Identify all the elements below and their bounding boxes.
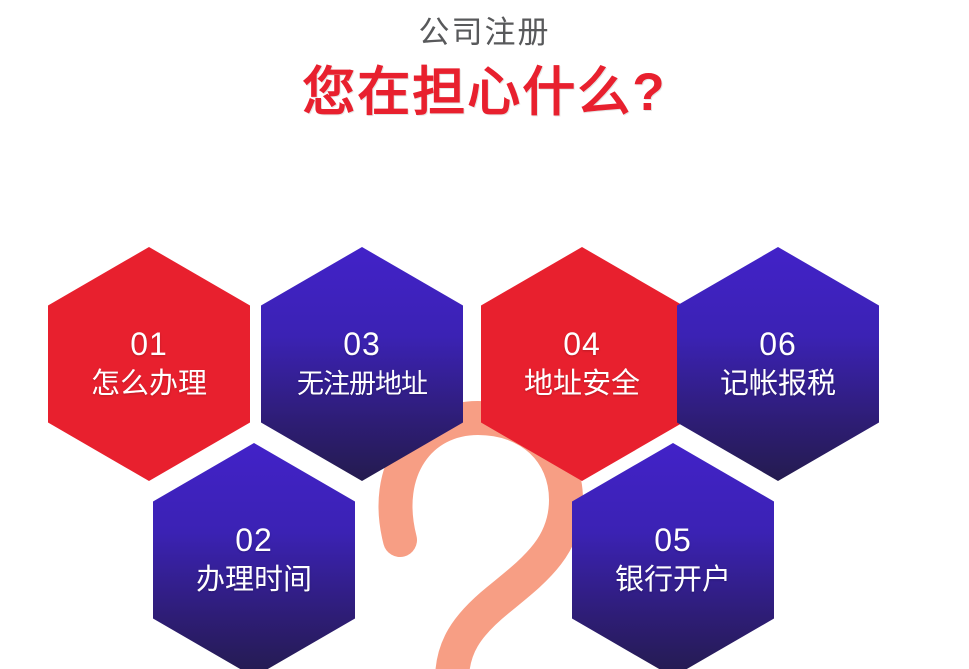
hexagon-label-01: 怎么办理 (91, 366, 207, 402)
hexagon-item-05[interactable]: 05 银行开户 (572, 443, 774, 669)
heading-block: 公司注册 您在担心什么? (0, 0, 969, 124)
page-title: 您在担心什么? (0, 52, 969, 124)
hexagon-item-01[interactable]: 01 怎么办理 (48, 247, 250, 481)
hexagon-label-06: 记帐报税 (720, 366, 836, 402)
hexagon-number-05: 05 (654, 522, 692, 558)
hexagon-item-04[interactable]: 04 地址安全 (481, 247, 683, 481)
hexagon-number-02: 02 (235, 522, 273, 558)
hexagon-label-04: 地址安全 (524, 366, 640, 402)
promo-banner: 公司注册 您在担心什么? 01 怎么办理 03 无注册地址 04 地址安全 06… (0, 0, 969, 669)
hexagon-item-06[interactable]: 06 记帐报税 (677, 247, 879, 481)
hexagon-number-03: 03 (343, 326, 381, 362)
page-subtitle: 公司注册 (0, 0, 969, 52)
hexagon-number-01: 01 (130, 326, 168, 362)
hexagon-label-03: 无注册地址 (297, 366, 427, 402)
hexagon-number-04: 04 (563, 326, 601, 362)
hexagon-number-06: 06 (759, 326, 797, 362)
hexagon-item-02[interactable]: 02 办理时间 (153, 443, 355, 669)
hexagon-label-05: 银行开户 (615, 562, 731, 598)
hexagon-item-03[interactable]: 03 无注册地址 (261, 247, 463, 481)
hexagon-label-02: 办理时间 (196, 562, 312, 598)
